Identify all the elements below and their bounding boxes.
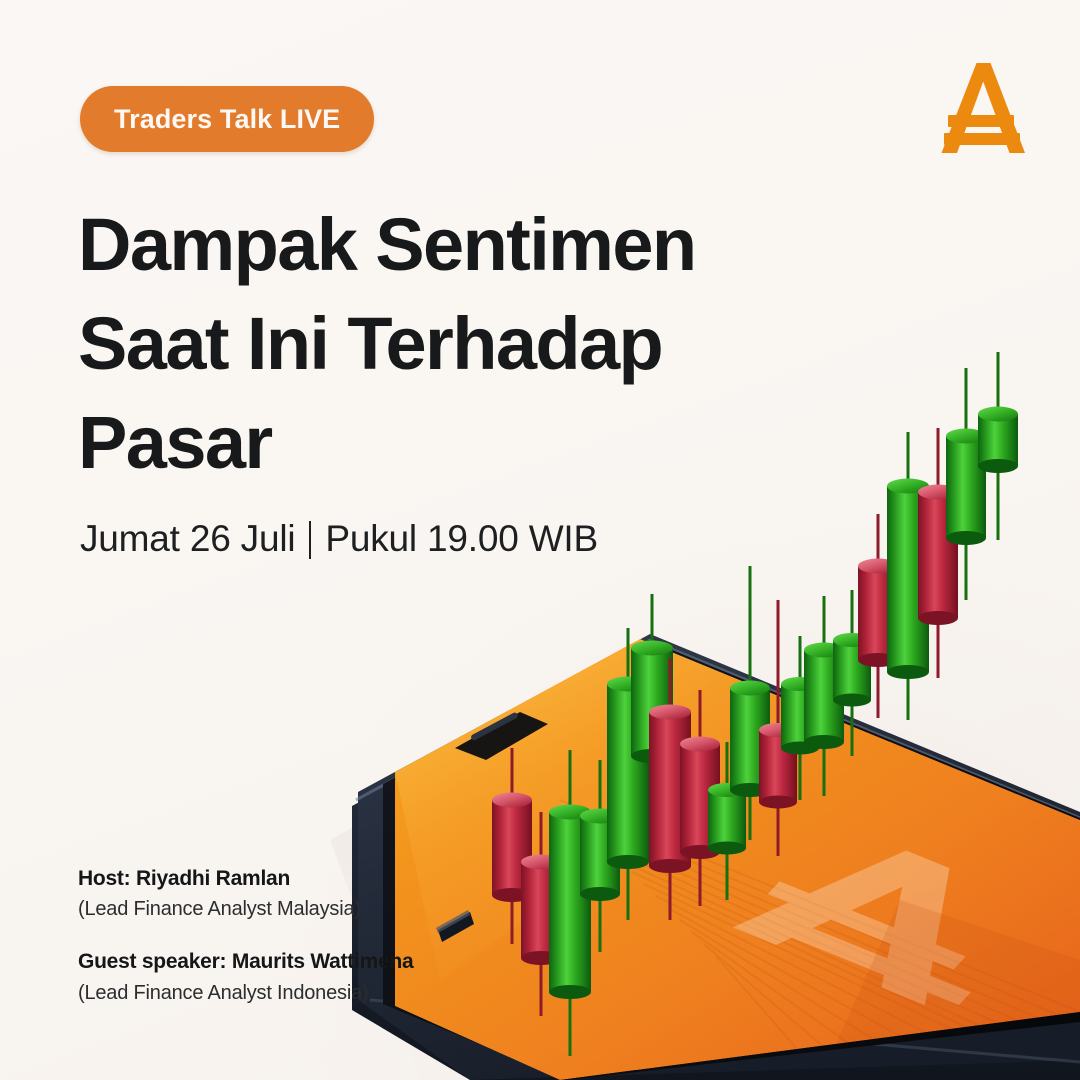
octa-a-logo-icon <box>930 57 1034 159</box>
guest-name: Guest speaker: Maurits Wattimena <box>78 949 414 975</box>
host-role: (Lead Finance Analyst Malaysia) <box>78 896 414 922</box>
event-date: Jumat 26 Juli <box>80 518 295 560</box>
headline-line-3: Pasar <box>78 394 838 493</box>
headline-line-2: Saat Ini Terhadap <box>78 295 838 394</box>
speaker-credits: Host: Riyadhi Ramlan (Lead Finance Analy… <box>78 866 414 1006</box>
content-layer: Traders Talk LIVE Dampak Sentimen Saat I… <box>0 0 1080 1080</box>
brand-logo <box>930 57 1034 159</box>
page-title: Dampak Sentimen Saat Ini Terhadap Pasar <box>78 196 838 492</box>
headline-line-1: Dampak Sentimen <box>78 196 838 295</box>
event-schedule: Jumat 26 Juli Pukul 19.00 WIB <box>80 518 598 560</box>
event-time: Pukul 19.00 WIB <box>325 518 598 560</box>
live-badge-label: Traders Talk LIVE <box>114 104 340 135</box>
guest-credit: Guest speaker: Maurits Wattimena (Lead F… <box>78 949 414 1005</box>
guest-role: (Lead Finance Analyst Indonesia) <box>78 980 414 1006</box>
schedule-divider <box>309 521 311 559</box>
host-name: Host: Riyadhi Ramlan <box>78 866 414 892</box>
host-credit: Host: Riyadhi Ramlan (Lead Finance Analy… <box>78 866 414 922</box>
live-badge: Traders Talk LIVE <box>80 86 374 152</box>
poster-canvas: Traders Talk LIVE Dampak Sentimen Saat I… <box>0 0 1080 1080</box>
